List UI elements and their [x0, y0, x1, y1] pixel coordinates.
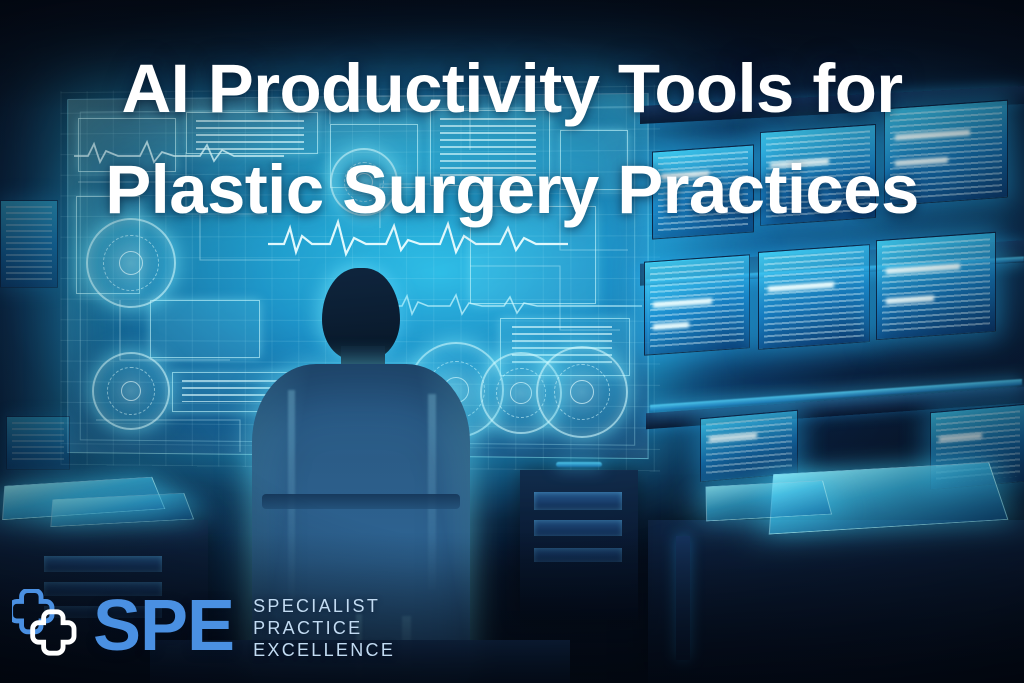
- hero-banner: AI Productivity Tools for Plastic Surger…: [0, 0, 1024, 683]
- tagline-line-2: PRACTICE: [253, 617, 395, 639]
- spe-logo[interactable]: SPE SPECIALIST PRACTICE EXCELLENCE: [12, 589, 395, 665]
- vignette-overlay: [0, 0, 1024, 683]
- spe-interlocking-crosses-icon: [12, 589, 88, 665]
- spe-tagline: SPECIALIST PRACTICE EXCELLENCE: [253, 595, 395, 661]
- tagline-line-3: EXCELLENCE: [253, 639, 395, 661]
- spe-wordmark: SPE: [93, 600, 234, 653]
- tagline-line-1: SPECIALIST: [253, 595, 395, 617]
